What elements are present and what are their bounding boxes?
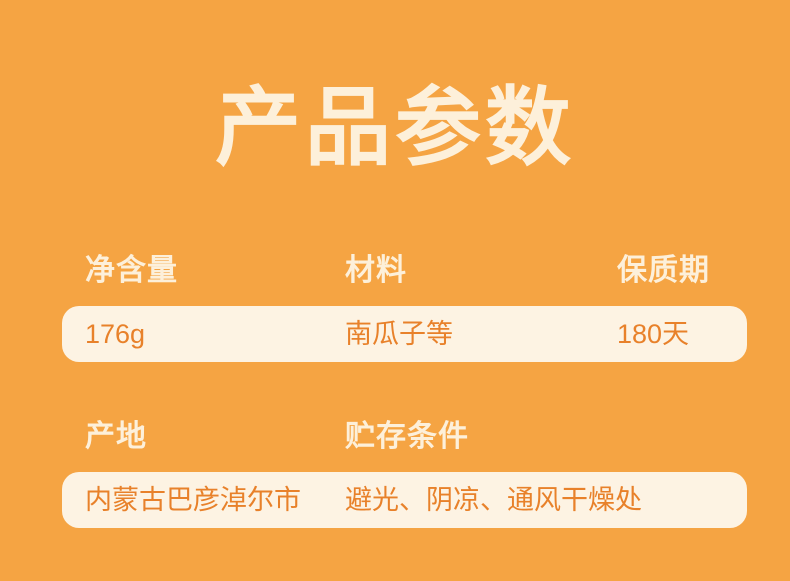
spec-header-origin: 产地: [85, 420, 345, 454]
spacer-header-values-2: [62, 454, 747, 472]
spec-group-2: 产地 贮存条件 内蒙古巴彦淖尔市 避光、阴凉、通风干燥处: [62, 398, 747, 528]
spec-value-origin: 内蒙古巴彦淖尔市: [85, 485, 345, 516]
spec-header-shelf-life: 保质期: [617, 254, 747, 288]
spec-value-shelf-life: 180天: [617, 319, 747, 350]
product-parameters-page: 产品参数 净含量 材料 保质期 176g 南瓜子等 180天 产地 贮存条件: [0, 0, 790, 581]
spacer-header-values-1: [62, 288, 747, 306]
spec-value-row-1: 176g 南瓜子等 180天: [62, 306, 747, 362]
spec-value-storage-conditions: 避光、阴凉、通风干燥处: [345, 485, 617, 516]
page-title: 产品参数: [0, 78, 790, 178]
spec-value-net-content: 176g: [85, 319, 345, 350]
spec-group-1: 净含量 材料 保质期 176g 南瓜子等 180天: [62, 232, 747, 362]
spec-header-row-2: 产地 贮存条件: [62, 398, 747, 454]
spacer-between-groups: [62, 362, 747, 398]
spec-header-storage-conditions: 贮存条件: [345, 420, 617, 454]
spec-value-row-2: 内蒙古巴彦淖尔市 避光、阴凉、通风干燥处: [62, 472, 747, 528]
spec-header-material: 材料: [345, 254, 617, 288]
spec-header-net-content: 净含量: [85, 254, 345, 288]
spec-value-material: 南瓜子等: [345, 319, 617, 350]
spec-table: 净含量 材料 保质期 176g 南瓜子等 180天 产地 贮存条件 内蒙古巴彦淖…: [62, 232, 747, 528]
spec-header-row-1: 净含量 材料 保质期: [62, 232, 747, 288]
